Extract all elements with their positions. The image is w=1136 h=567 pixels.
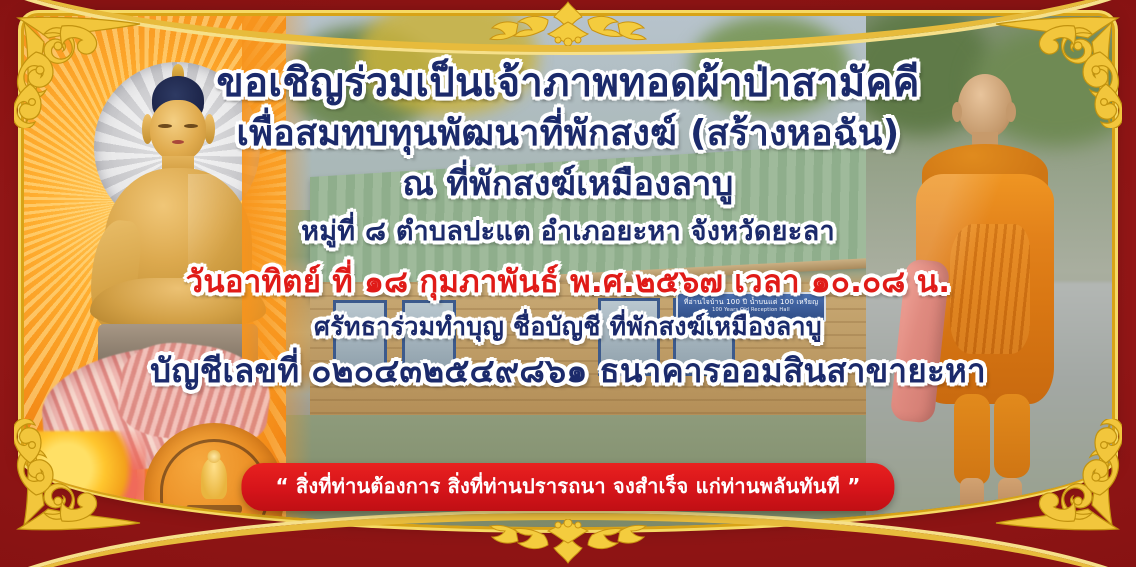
center-temple-photo: ที่อ่านใจบ้าน 100 ปี น้ำบนแต่ 100 เหรียญ… [274, 16, 874, 527]
medallion-base [186, 505, 242, 513]
medallion-buddha-figure [201, 457, 227, 499]
buddha-face [150, 100, 206, 162]
window [402, 300, 456, 374]
monk-sandal-right [992, 518, 1028, 527]
buddha-eye-left [158, 124, 172, 128]
building-sign: ที่อ่านใจบ้าน 100 ปี น้ำบนแต่ 100 เหรียญ… [676, 292, 826, 322]
building-sign-en: 100 Years Old Reception Hall [678, 307, 824, 313]
buddha-lap [90, 278, 266, 330]
monk-robe-folds [950, 224, 1030, 354]
monk-photo [866, 16, 1112, 527]
monk-ear-right [1006, 102, 1016, 122]
building-sign-th: ที่อ่านใจบ้าน 100 ปี น้ำบนแต่ 100 เหรียญ [684, 298, 819, 306]
window [598, 298, 660, 376]
monk-leg-left [954, 394, 990, 486]
monk-figure [902, 74, 1066, 494]
monk-shin-right [998, 478, 1022, 520]
crest-ornament-top [463, 0, 673, 46]
monk-sandal-left [952, 518, 988, 527]
buddha-lips [172, 140, 184, 144]
blessing-quote-banner: “ สิ่งที่ท่านต้องการ สิ่งที่ท่านปรารถนา … [241, 463, 894, 511]
window [333, 300, 387, 374]
monk-ear-left [952, 102, 962, 122]
monk-leg-right [994, 394, 1030, 478]
buddha-eye-right [184, 124, 198, 128]
merit-invitation-banner: ที่อ่านใจบ้าน 100 ปี น้ำบนแต่ 100 เหรียญ… [0, 0, 1136, 567]
buddha-statue [68, 34, 278, 374]
photo-stage: ที่อ่านใจบ้าน 100 ปี น้ำบนแต่ 100 เหรียญ… [24, 16, 1112, 527]
monk-shin-left [960, 478, 984, 520]
buddha-robe [188, 174, 250, 294]
blessing-quote-text: “ สิ่งที่ท่านต้องการ สิ่งที่ท่านปรารถนา … [241, 463, 894, 511]
crest-ornament-bottom [463, 519, 673, 565]
monk-head [958, 74, 1012, 138]
flower-offering [24, 431, 146, 521]
